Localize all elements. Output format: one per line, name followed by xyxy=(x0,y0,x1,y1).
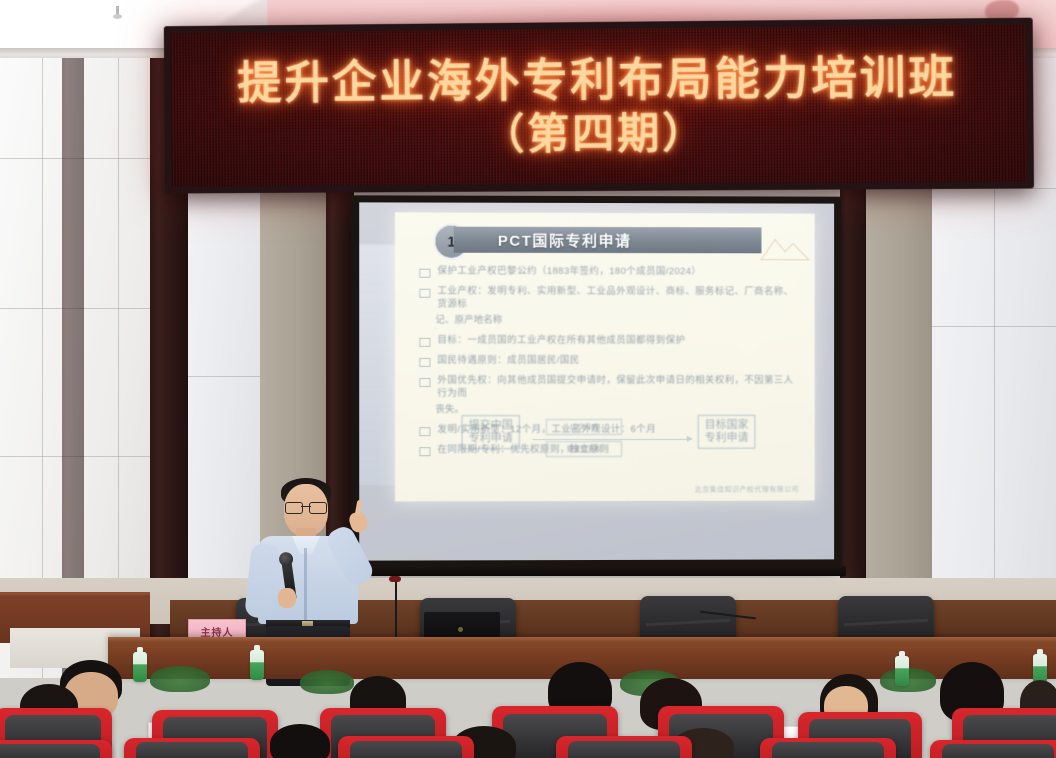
flow-box-left: 提交中国专利申请 xyxy=(462,415,520,449)
seat-cushion xyxy=(568,741,680,758)
bullet-marker-icon xyxy=(419,269,430,278)
plant-icon xyxy=(300,670,354,694)
audience-seat xyxy=(338,736,474,758)
seat-cushion xyxy=(942,744,1054,758)
seat-cushion xyxy=(136,742,248,758)
speaker-left-hand xyxy=(278,588,296,608)
audience-seat xyxy=(124,738,260,758)
water-bottle-icon xyxy=(895,656,909,686)
audience-seat xyxy=(0,740,112,758)
seat-cushion xyxy=(772,742,884,758)
flow-label-priority: 要求优先权 xyxy=(546,441,622,457)
water-bottle-icon xyxy=(133,652,147,682)
slide-bullet: 目标：一成员国的工业产权在所有其他成员国都得到保护 xyxy=(419,334,801,347)
slide-title-bar: PCT国际专利申请 xyxy=(453,226,761,253)
led-banner: 提升企业海外专利布局能力培训班 （第四期） xyxy=(164,18,1034,194)
bullet-marker-icon xyxy=(419,289,430,298)
slide-bullet: 保护工业产权巴黎公约（1883年签约，180个成员国/2024） xyxy=(419,264,801,278)
bullet-marker-icon xyxy=(419,378,430,387)
projection-surface: 1 PCT国际专利申请 保护工业产权巴黎公约（1883年签约，180个成员国/2… xyxy=(359,202,834,560)
slide-bullet: 国民待遇原则：成员国居民/国民 xyxy=(419,354,801,367)
attendee-hair xyxy=(270,724,330,758)
panel-seam xyxy=(188,376,260,377)
presentation-slide: 1 PCT国际专利申请 保护工业产权巴黎公约（1883年签约，180个成员国/2… xyxy=(395,212,815,502)
audience-area: 黄俊文 xyxy=(0,656,1056,758)
audience-seat xyxy=(930,740,1056,758)
slide-footer: 北京集佳知识产权代理有限公司 xyxy=(695,484,799,494)
plant-icon xyxy=(150,666,210,692)
projection-screen: 1 PCT国际专利申请 保护工业产权巴黎公约（1883年签约，180个成员国/2… xyxy=(351,195,841,568)
speaker-shirt-placket xyxy=(304,548,307,620)
seat-cushion xyxy=(350,741,462,758)
slide-title: PCT国际专利申请 xyxy=(498,229,632,250)
bullet-text: 目标：一成员国的工业产权在所有其他成员国都得到保护 xyxy=(437,334,685,347)
flow-arrow-icon xyxy=(532,439,692,440)
microphone-stand xyxy=(395,580,397,638)
mountain-decoration-icon xyxy=(759,232,810,262)
bullet-marker-icon xyxy=(419,358,430,367)
bullet-text: 国民待遇原则：成员国居民/国民 xyxy=(437,354,579,367)
speaker-person xyxy=(240,476,390,664)
flow-box-right: 目标国家专利申请 xyxy=(698,415,756,449)
head-table-edge xyxy=(108,637,1056,642)
led-banner-line2: （第四期） xyxy=(482,108,707,160)
bullet-marker-icon xyxy=(419,427,430,436)
audience-seat xyxy=(760,738,896,758)
bullet-continuation: 记、原产地名称 xyxy=(435,314,801,327)
flow-label-period: 12个月内 xyxy=(546,419,622,435)
audience-seat xyxy=(556,736,692,758)
slide-bullet: 工业产权：发明专利、实用新型、工业品外观设计、商标、服务标记、厂商名称、货源标 xyxy=(419,285,801,312)
led-screen: 提升企业海外专利布局能力培训班 （第四期） xyxy=(171,25,1027,187)
glasses-icon xyxy=(285,502,327,512)
led-banner-line1: 提升企业海外专利布局能力培训班 xyxy=(237,51,957,109)
bullet-marker-icon xyxy=(419,338,430,347)
conference-photo-scene: 提升企业海外专利布局能力培训班 （第四期） 1 PCT国际专利申请 保护工业产权… xyxy=(0,0,1056,758)
sprinkler-icon xyxy=(113,6,122,22)
water-bottle-icon xyxy=(250,650,264,680)
projection-screen-bottom-bar xyxy=(346,566,846,576)
bullet-text: 外国优先权：向其他成员国提交申请时，保留此次申请日的相关权利，不因第三人行为而 xyxy=(437,374,801,400)
slide-flow-diagram: 提交中国专利申请 12个月内 要求优先权 目标国家专利申请 xyxy=(462,415,762,478)
bullet-text: 工业产权：发明专利、实用新型、工业品外观设计、商标、服务标记、厂商名称、货源标 xyxy=(437,285,801,312)
bullet-marker-icon xyxy=(419,447,430,456)
seat-cushion xyxy=(0,744,100,758)
bullet-text: 保护工业产权巴黎公约（1883年签约，180个成员国/2024） xyxy=(437,265,701,279)
microphone-head-icon xyxy=(389,576,401,582)
slide-bullet: 外国优先权：向其他成员国提交申请时，保留此次申请日的相关权利，不因第三人行为而 xyxy=(419,374,801,400)
